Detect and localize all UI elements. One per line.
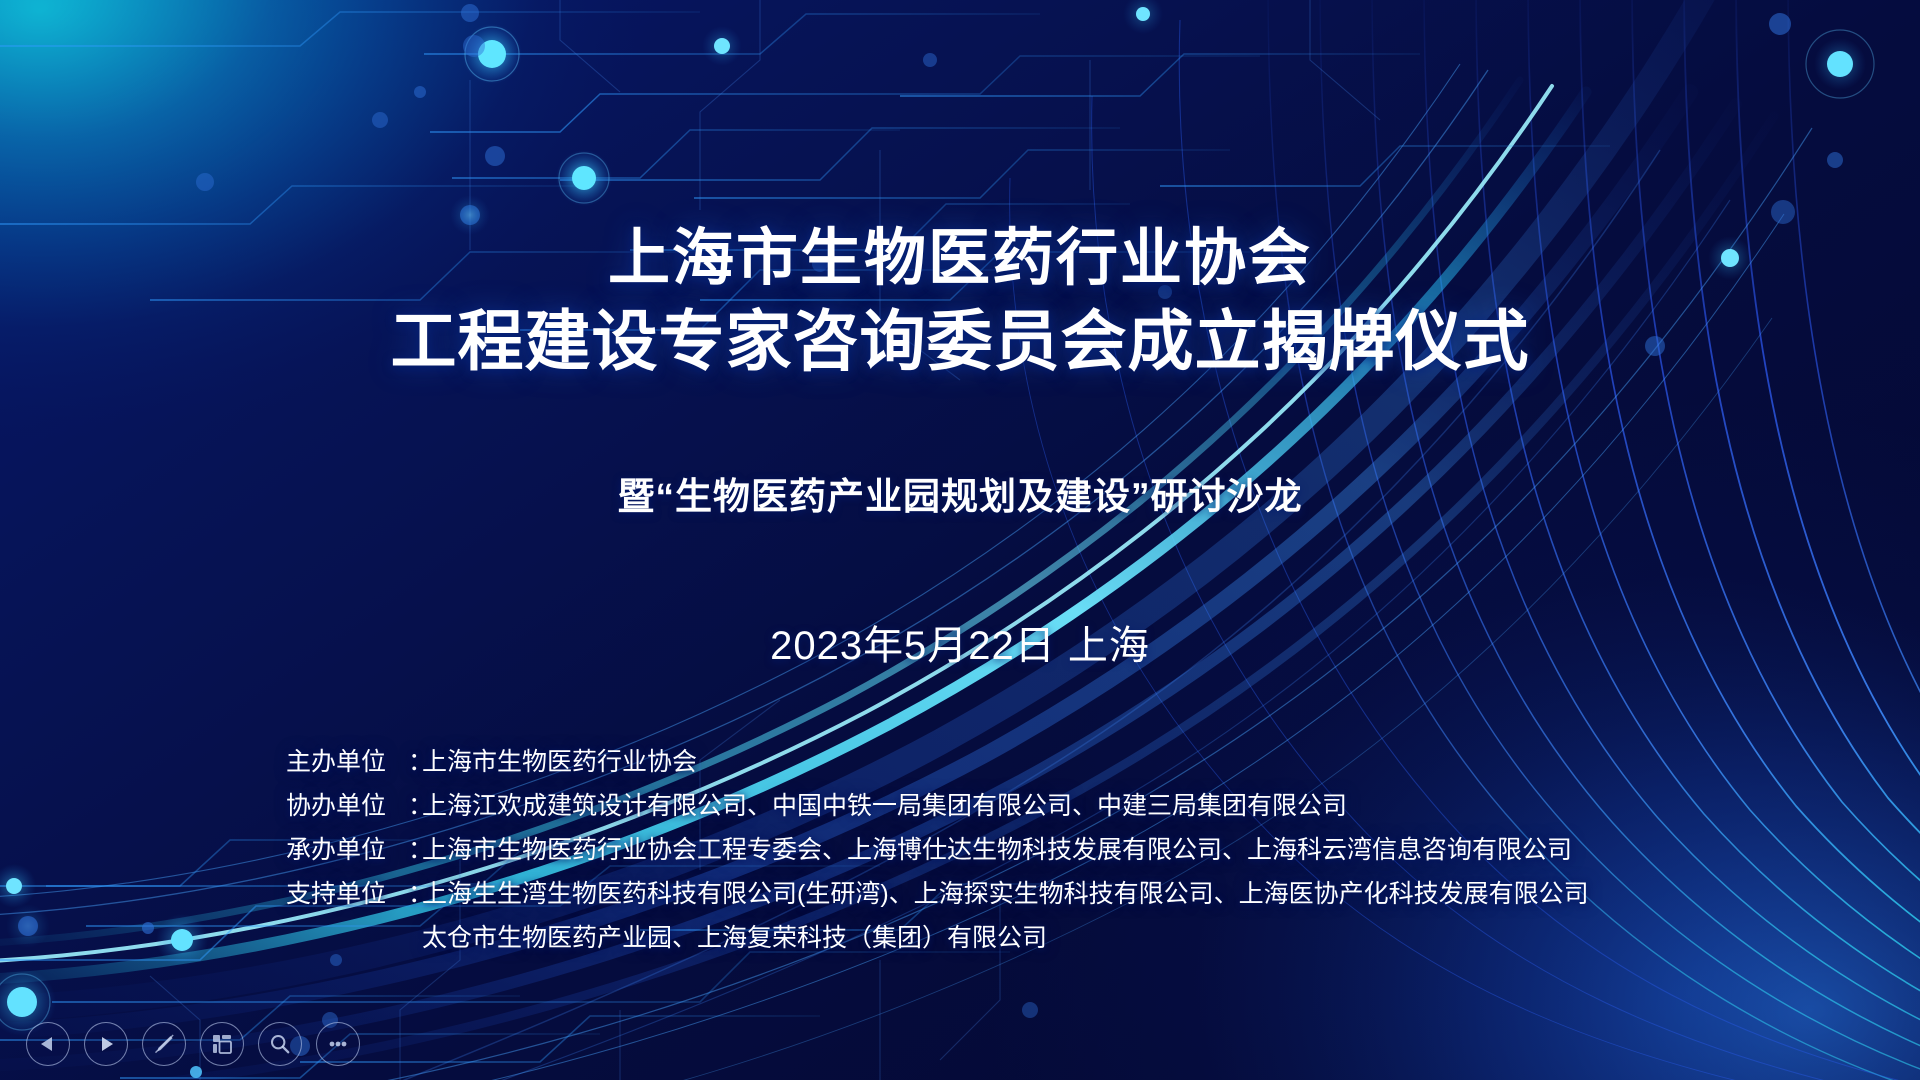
organization-colon: ： bbox=[408, 784, 422, 828]
organization-colon: ： bbox=[408, 740, 422, 784]
ellipsis-icon bbox=[325, 1031, 351, 1057]
grid-slides-icon bbox=[210, 1032, 234, 1056]
slide-title: 上海市生物医药行业协会 工程建设专家咨询委员会成立揭牌仪式 bbox=[0, 218, 1920, 382]
next-slide-button[interactable] bbox=[84, 1022, 128, 1066]
organization-row-supporter: 支持单位 ： 上海生生湾生物医药科技有限公司(生研湾)、上海探实生物科技有限公司… bbox=[286, 872, 1589, 916]
magnifier-icon bbox=[268, 1032, 292, 1056]
organization-row-host: 主办单位 ： 上海市生物医药行业协会 bbox=[286, 740, 1589, 784]
triangle-left-icon bbox=[38, 1034, 58, 1054]
zoom-button[interactable] bbox=[258, 1022, 302, 1066]
annotate-button[interactable] bbox=[142, 1022, 186, 1066]
organization-value: 上海生生湾生物医药科技有限公司(生研湾)、上海探实生物科技有限公司、上海医协产化… bbox=[422, 872, 1589, 916]
organization-label: 协办单位 bbox=[286, 784, 408, 828]
organization-value: 太仓市生物医药产业园、上海复荣科技（集团）有限公司 bbox=[422, 916, 1047, 960]
organization-row-undertaker: 承办单位 ： 上海市生物医药行业协会工程专委会、上海博仕达生物科技发展有限公司、… bbox=[286, 828, 1589, 872]
organization-colon: ： bbox=[408, 828, 422, 872]
slide-overview-button[interactable] bbox=[200, 1022, 244, 1066]
organization-list: 主办单位 ： 上海市生物医药行业协会 协办单位 ： 上海江欢成建筑设计有限公司、… bbox=[286, 740, 1589, 960]
organization-row-coorganizer: 协办单位 ： 上海江欢成建筑设计有限公司、中国中铁一局集团有限公司、中建三局集团… bbox=[286, 784, 1589, 828]
presentation-slide: 上海市生物医药行业协会 工程建设专家咨询委员会成立揭牌仪式 暨“生物医药产业园规… bbox=[0, 0, 1920, 1080]
more-options-button[interactable] bbox=[316, 1022, 360, 1066]
slideshow-toolbar bbox=[26, 1022, 360, 1066]
organization-label: 主办单位 bbox=[286, 740, 408, 784]
triangle-right-icon bbox=[96, 1034, 116, 1054]
event-datetime-location: 2023年5月22日 上海 bbox=[0, 613, 1920, 671]
organization-row-supporter-continued: 支持单位 ： 太仓市生物医药产业园、上海复荣科技（集团）有限公司 bbox=[286, 916, 1589, 960]
organization-colon: ： bbox=[408, 872, 422, 916]
organization-label: 承办单位 bbox=[286, 828, 408, 872]
title-line-2: 工程建设专家咨询委员会成立揭牌仪式 bbox=[0, 300, 1920, 382]
title-line-1: 上海市生物医药行业协会 bbox=[0, 218, 1920, 300]
previous-slide-button[interactable] bbox=[26, 1022, 70, 1066]
pen-icon bbox=[151, 1031, 177, 1057]
organization-value: 上海市生物医药行业协会 bbox=[422, 740, 697, 784]
slide-subtitle: 暨“生物医药产业园规划及建设”研讨沙龙 bbox=[0, 466, 1920, 520]
organization-label: 支持单位 bbox=[286, 872, 408, 916]
organization-value: 上海江欢成建筑设计有限公司、中国中铁一局集团有限公司、中建三局集团有限公司 bbox=[422, 784, 1347, 828]
organization-value: 上海市生物医药行业协会工程专委会、上海博仕达生物科技发展有限公司、上海科云湾信息… bbox=[422, 828, 1572, 872]
